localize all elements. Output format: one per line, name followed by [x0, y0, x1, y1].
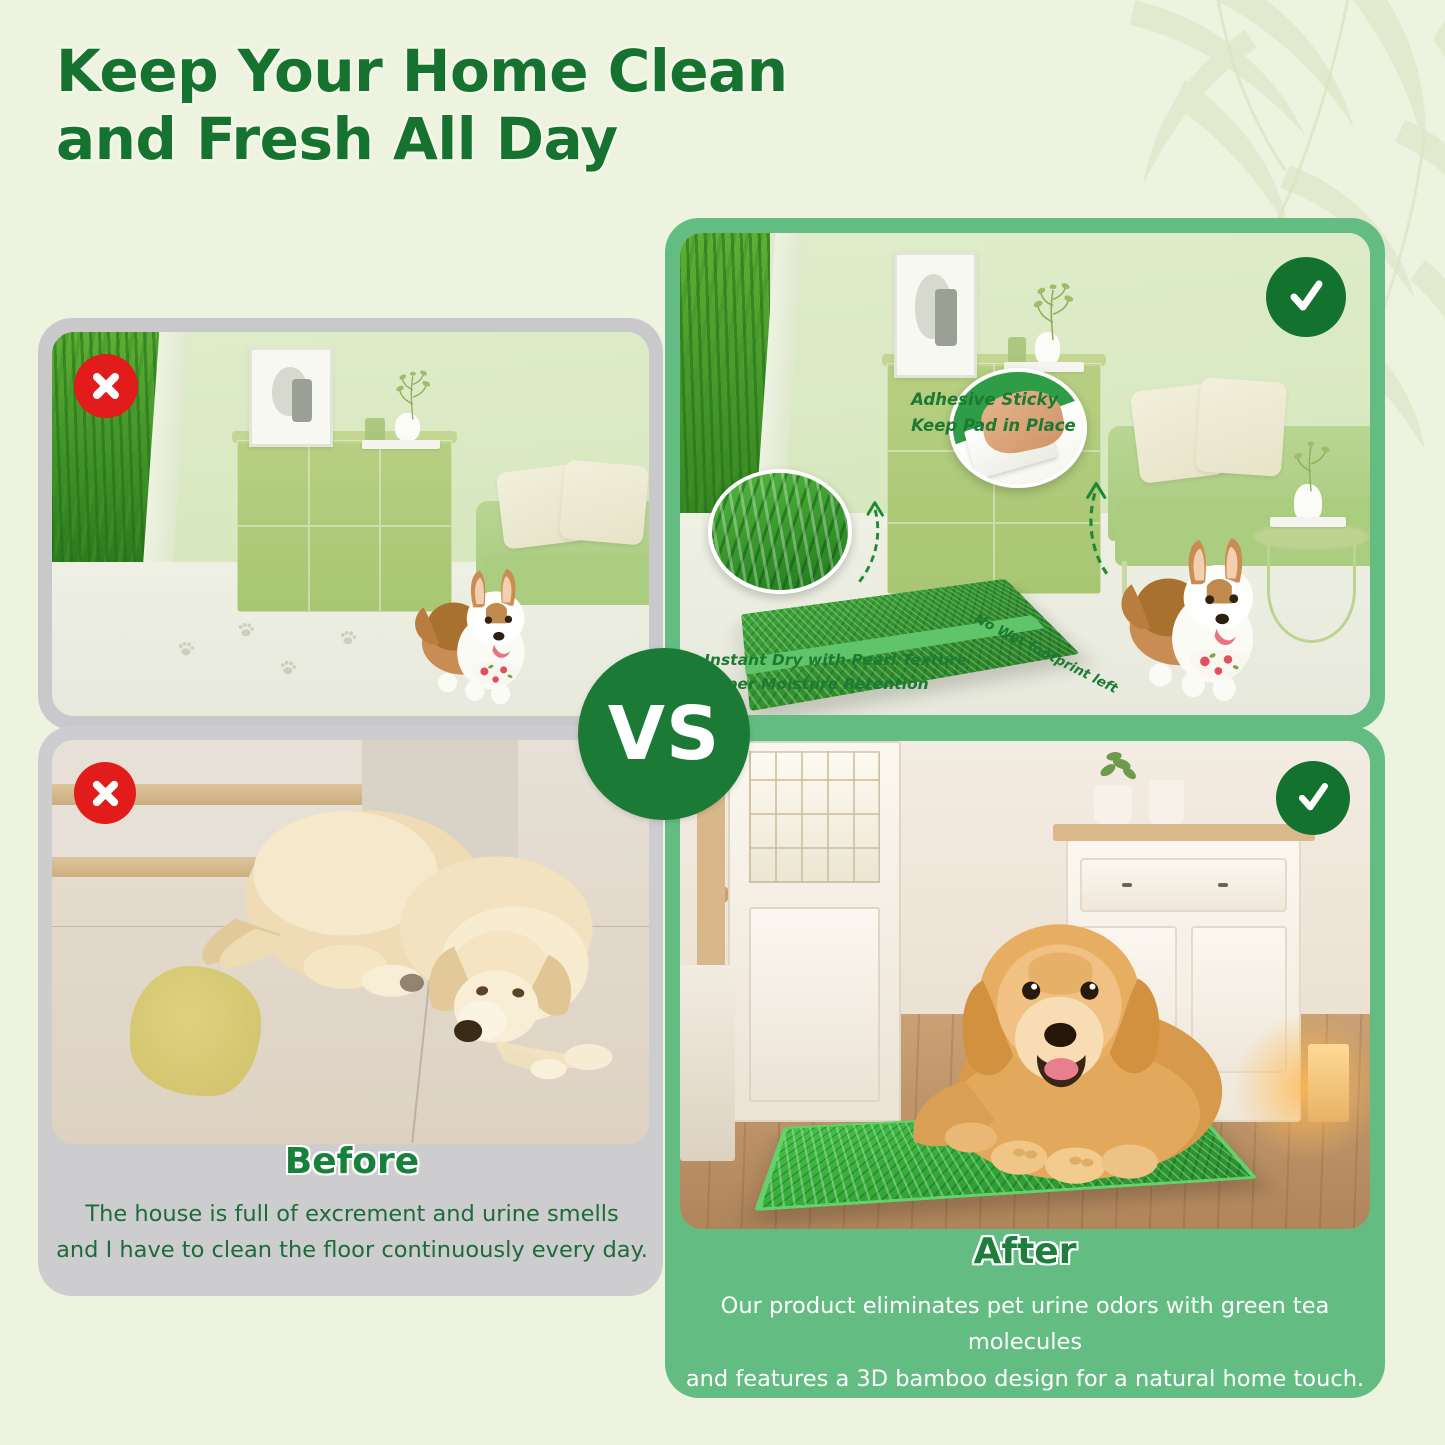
check-icon: [1293, 778, 1333, 818]
callout-adhesive-line-2: Keep Pad in Place: [911, 413, 1076, 439]
cabinet-door: [380, 440, 452, 526]
potted-plant-icon: [1080, 741, 1156, 795]
corgi-dog: [392, 524, 559, 708]
before-bottom-photo: [52, 740, 649, 1144]
paw-print-icon: [333, 628, 363, 647]
caption-before: Before The house is full of excrement an…: [52, 1141, 652, 1269]
wall-art-frame: [249, 347, 333, 447]
arrow-curve-icon: [1032, 474, 1129, 580]
arrow-curve-icon: [839, 493, 936, 589]
corgi-dog: [1108, 484, 1281, 706]
callout-instant-dry: Instant Dry with Pearl Texture Super Moi…: [704, 648, 967, 696]
caption-after-title: After: [672, 1231, 1378, 1272]
cross-badge: [74, 354, 138, 418]
paw-print-icon: [231, 620, 261, 639]
plant-sprig-icon: [1280, 435, 1342, 493]
vs-badge: VS: [578, 648, 750, 820]
after-bottom-photo: [680, 741, 1370, 1229]
book: [1270, 517, 1346, 527]
grass-texture: [712, 473, 849, 590]
before-top-photo: [52, 332, 649, 716]
caption-before-line-1: The house is full of excrement and urine…: [52, 1196, 652, 1232]
callout-instant-dry-line-1: Instant Dry with Pearl Texture: [704, 648, 967, 672]
headline-line-1: Keep Your Home Clean: [56, 37, 787, 105]
vs-label: VS: [608, 697, 721, 771]
panel-before-top: [38, 318, 663, 730]
caption-after-line-1: Our product eliminates pet urine odors w…: [672, 1288, 1378, 1361]
door-glass-muntins: [749, 751, 880, 883]
check-badge: [1276, 761, 1350, 835]
shelf-plank: [1053, 824, 1315, 841]
check-badge: [1266, 257, 1346, 337]
callout-adhesive-line-1: Adhesive Sticky: [911, 387, 1076, 413]
paw-print-icon: [273, 658, 303, 677]
page-title: Keep Your Home Clean and Fresh All Day: [56, 38, 886, 174]
lamp-glow: [1232, 1014, 1370, 1160]
caption-before-title: Before: [52, 1141, 652, 1182]
cabinet-door: [237, 526, 309, 612]
golden-retriever-dog: [195, 768, 637, 1099]
headline-line-2: and Fresh All Day: [56, 106, 886, 174]
plant-sprig-icon: [383, 367, 443, 421]
cross-icon: [89, 369, 123, 403]
callout-adhesive: Adhesive Sticky Keep Pad in Place: [911, 387, 1076, 438]
paw-print-icon: [171, 639, 201, 658]
golden-retriever-dog: [873, 868, 1246, 1200]
caption-after-line-2: and features a 3D bamboo design for a na…: [672, 1361, 1378, 1397]
callout-instant-dry-line-2: Super Moisture Retention: [704, 672, 967, 696]
pillow: [559, 459, 649, 545]
check-icon: [1284, 275, 1328, 319]
caption-after: After Our product eliminates pet urine o…: [672, 1231, 1378, 1397]
pad-texture-zoom: [708, 469, 853, 594]
cross-icon: [89, 777, 122, 810]
plant-sprig-icon: [1022, 279, 1084, 342]
cabinet-door: [237, 440, 309, 526]
pillow: [1194, 377, 1287, 477]
green-cup: [365, 418, 384, 441]
caption-before-line-2: and I have to clean the floor continuous…: [52, 1232, 652, 1268]
wall-art-frame: [894, 252, 977, 377]
book: [362, 440, 440, 449]
shoe-cabinet: [680, 965, 735, 1160]
cabinet-door: [309, 526, 381, 612]
cross-badge: [74, 762, 136, 824]
floor-lamp: [1308, 1044, 1349, 1122]
panel-after-top: Adhesive Sticky Keep Pad in Place Instan…: [665, 218, 1385, 730]
after-top-photo: Adhesive Sticky Keep Pad in Place Instan…: [680, 233, 1370, 715]
cabinet-door: [309, 440, 381, 526]
door-lower-panel: [749, 907, 880, 1102]
